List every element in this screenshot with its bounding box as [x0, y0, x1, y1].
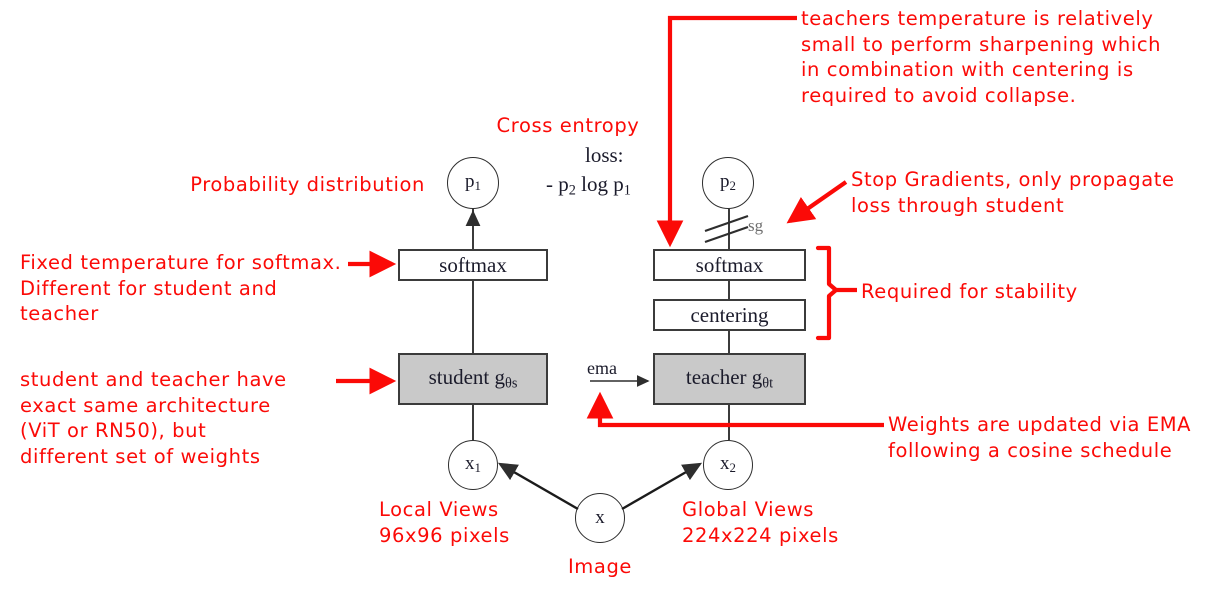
student-label-subscript: θs — [505, 376, 517, 392]
softmax-student-label: softmax — [439, 253, 507, 278]
centering-box[interactable]: centering — [653, 299, 806, 331]
node-p2-subscript: 2 — [730, 179, 736, 194]
annotation-same-architecture: student and teacher have exact same arch… — [20, 367, 390, 469]
centering-label: centering — [690, 303, 768, 328]
student-label: student gθs — [429, 365, 518, 393]
softmax-box-teacher[interactable]: softmax — [653, 249, 806, 281]
diagram-canvas: softmax softmax centering student gθs te… — [0, 0, 1208, 598]
loss-line-1: loss: — [585, 143, 624, 168]
annotation-global-views: Global Views 224x224 pixels — [682, 497, 882, 548]
node-p1-subscript: 1 — [475, 179, 481, 194]
annotation-stop-gradients: Stop Gradients, only propagate loss thro… — [851, 167, 1196, 218]
connector-x1-to-student-box — [472, 405, 474, 440]
annotation-probability-distribution: Probability distribution — [180, 172, 425, 198]
annotation-teacher-temperature: teachers temperature is relatively small… — [801, 6, 1201, 108]
stability-brace — [818, 248, 836, 338]
student-label-text: student g — [429, 365, 505, 389]
node-x[interactable]: x — [575, 493, 625, 543]
connector-x2-to-teacher-box — [728, 405, 730, 440]
sg-label: sg — [748, 216, 763, 236]
node-x2-label: x2 — [720, 453, 736, 476]
loss-line-2: - p2 log p1 — [546, 172, 631, 200]
node-p2[interactable]: p2 — [702, 157, 754, 209]
annotation-fixed-temperature: Fixed temperature for softmax. Different… — [20, 250, 390, 327]
node-p1-label: pp11 — [465, 171, 481, 194]
annotation-image: Image — [564, 554, 636, 580]
annotation-local-views: Local Views 96x96 pixels — [379, 497, 549, 548]
connector-p2-to-sg — [728, 209, 730, 251]
node-p1[interactable]: pp11 — [447, 157, 499, 209]
node-x-label: x — [595, 507, 605, 529]
teacher-label: teacher gθt — [686, 365, 773, 393]
connector-centering-to-teacher-box — [728, 331, 730, 354]
annotation-cross-entropy: Cross entropy — [495, 113, 641, 139]
teacher-label-text: teacher g — [686, 365, 762, 389]
teacher-label-subscript: θt — [762, 376, 773, 392]
node-x1[interactable]: x1 — [448, 440, 498, 490]
student-box[interactable]: student gθs — [398, 353, 548, 405]
connector-teacher-softmax-to-centering — [728, 280, 730, 300]
connector-student-softmax-to-p1 — [472, 209, 474, 251]
node-x2[interactable]: x2 — [703, 440, 753, 490]
node-x1-label: x1 — [465, 453, 481, 476]
node-p2-label: p2 — [720, 171, 736, 194]
softmax-box-student[interactable]: softmax — [398, 249, 548, 281]
annotation-weights-ema: Weights are updated via EMA following a … — [888, 412, 1208, 463]
node-x2-subscript: 2 — [730, 461, 736, 476]
connector-student-box-to-softmax — [472, 280, 474, 354]
teacher-box[interactable]: teacher gθt — [653, 353, 806, 405]
node-x1-subscript: 1 — [475, 461, 481, 476]
ema-label: ema — [587, 358, 617, 379]
annotation-required-for-stability: Required for stability — [861, 279, 1121, 305]
stop-gradient-slashes — [705, 216, 748, 242]
softmax-teacher-label: softmax — [696, 253, 764, 278]
